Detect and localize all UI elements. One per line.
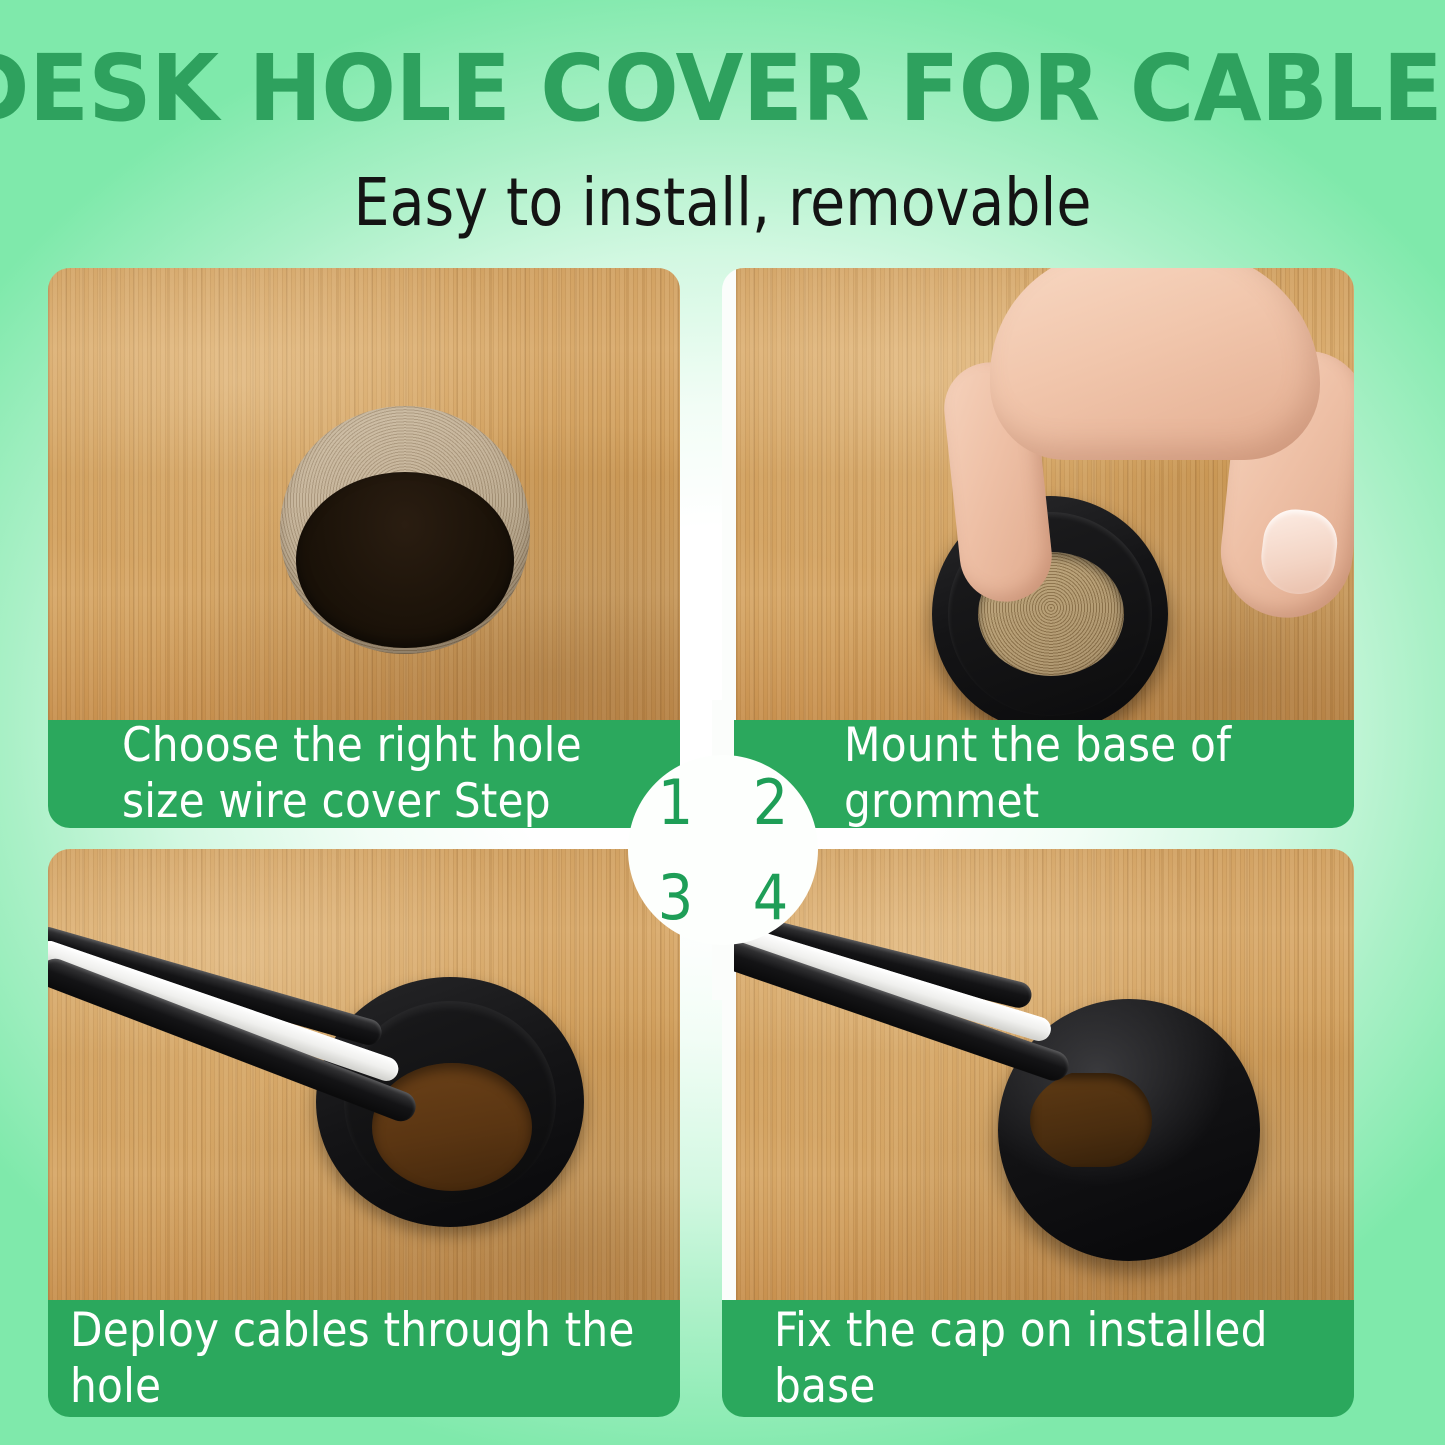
hole-dark-interior <box>296 472 514 648</box>
dial-number-3: 3 <box>658 867 693 929</box>
step-3-caption-text: Deploy cables through the hole <box>70 1303 680 1415</box>
step-4-caption: Fix the cap on installed base <box>722 1300 1354 1417</box>
dial-number-1: 1 <box>658 772 693 834</box>
step-4-caption-text: Fix the cap on installed base <box>774 1303 1354 1415</box>
step-panel-3: Deploy cables through the hole <box>48 849 680 1417</box>
step-2-caption: Mount the base of grommet <box>722 720 1354 828</box>
hand-holding-grommet <box>928 268 1354 672</box>
hand-knuckles <box>990 268 1320 460</box>
step-3-caption: Deploy cables through the hole <box>48 1300 680 1417</box>
step-4-photo <box>722 849 1354 1300</box>
step-3-photo <box>48 849 680 1300</box>
step-panel-4: Fix the cap on installed base <box>722 849 1354 1417</box>
dial-number-2: 2 <box>753 772 788 834</box>
step-2-photo <box>722 268 1354 720</box>
cap-cable-notch <box>1030 1073 1152 1167</box>
step-1-caption: Choose the right hole size wire cover St… <box>48 720 680 828</box>
step-2-caption-text: Mount the base of grommet <box>844 718 1354 828</box>
step-panel-2: Mount the base of grommet <box>722 268 1354 828</box>
drilled-hole <box>280 406 530 654</box>
dial-number-4: 4 <box>753 867 788 929</box>
step-1-caption-line-1: Choose the right hole <box>122 718 582 773</box>
step-number-dial: 1 2 3 4 <box>628 755 818 945</box>
base-open-bore <box>372 1063 532 1191</box>
photo-left-margin <box>722 268 736 720</box>
step-1-caption-line-2: size wire cover Step <box>122 774 551 828</box>
step-1-photo <box>48 268 680 720</box>
step-panel-1: Choose the right hole size wire cover St… <box>48 268 680 828</box>
